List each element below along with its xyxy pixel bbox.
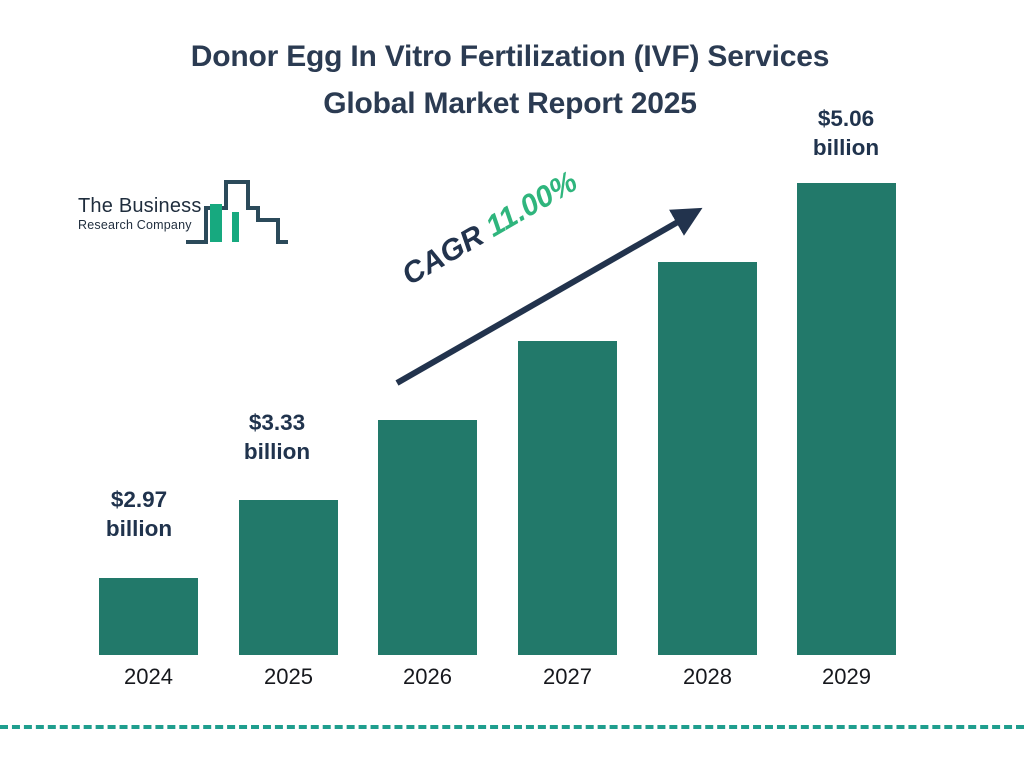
- footer-divider: [0, 725, 1024, 729]
- x-tick-2027: 2027: [518, 664, 617, 690]
- cagr-value: 11.00%: [480, 165, 583, 243]
- bar-2027[interactable]: [518, 341, 617, 655]
- value-label-2025-unit: billion: [202, 437, 352, 466]
- value-label-2025: $3.33 billion: [202, 408, 352, 466]
- cagr-annotation: CAGR 11.00%: [397, 166, 583, 292]
- x-tick-2025: 2025: [239, 664, 338, 690]
- x-tick-2029: 2029: [797, 664, 896, 690]
- bar-chart: $2.97 billion $3.33 billion $5.06 billio…: [0, 0, 1024, 768]
- value-label-2029-amount: $5.06: [771, 104, 921, 133]
- cagr-label: CAGR: [397, 219, 490, 292]
- value-label-2024: $2.97 billion: [66, 485, 212, 543]
- bar-2025[interactable]: [239, 500, 338, 655]
- x-tick-2028: 2028: [658, 664, 757, 690]
- bar-2026[interactable]: [378, 420, 477, 655]
- bar-2028[interactable]: [658, 262, 757, 655]
- value-label-2029-unit: billion: [771, 133, 921, 162]
- value-label-2024-unit: billion: [66, 514, 212, 543]
- value-label-2025-amount: $3.33: [202, 408, 352, 437]
- bar-2029[interactable]: [797, 183, 896, 655]
- value-label-2029: $5.06 billion: [771, 104, 921, 162]
- bar-2024[interactable]: [99, 578, 198, 655]
- x-tick-2024: 2024: [99, 664, 198, 690]
- value-label-2024-amount: $2.97: [66, 485, 212, 514]
- x-tick-2026: 2026: [378, 664, 477, 690]
